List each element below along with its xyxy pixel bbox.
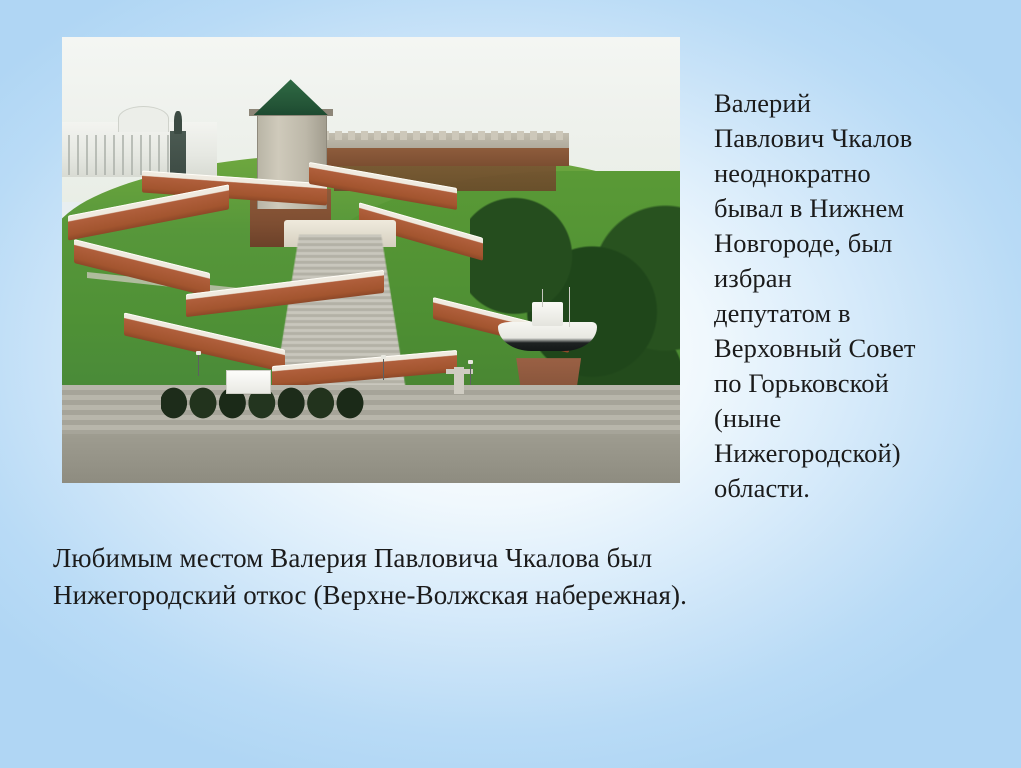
street-lamp: [198, 354, 199, 376]
building-dome: [118, 106, 169, 132]
boat-monument-cabin: [532, 302, 563, 325]
embankment-edge: [62, 434, 680, 483]
boat-monument-mast: [542, 289, 543, 307]
bottom-text-block: Любимым местом Валерия Павловича Чкалова…: [53, 540, 993, 615]
right-text-line: неоднократно: [714, 156, 1014, 191]
right-text-line: депутатом в: [714, 296, 1014, 331]
chkalov-monument-plinth: [170, 131, 186, 178]
right-text-block: Валерий Павлович Чкалов неоднократно быв…: [714, 86, 1014, 506]
presentation-slide: Валерий Павлович Чкалов неоднократно быв…: [0, 0, 1021, 768]
chkalov-monument-figure: [174, 111, 183, 134]
right-text-line: Новгороде, был: [714, 226, 1014, 261]
kremlin-wall-crenellations: [322, 131, 569, 141]
right-text-line: (ныне: [714, 401, 1014, 436]
right-text-line: Валерий: [714, 86, 1014, 121]
bottom-text-line: Нижегородский откос (Верхне-Волжская наб…: [53, 577, 993, 614]
right-text-line: бывал в Нижнем: [714, 191, 1014, 226]
embankment-kiosk: [226, 370, 271, 394]
street-lamp: [383, 358, 384, 380]
right-text-line: избран: [714, 261, 1014, 296]
chkalov-staircase-photo: [62, 37, 680, 483]
right-text-line: Верховный Совет: [714, 331, 1014, 366]
boat-monument-mast: [569, 287, 570, 327]
right-text-line: Павлович Чкалов: [714, 121, 1014, 156]
boat-monument-hull: [498, 322, 597, 351]
street-lamp: [470, 363, 471, 385]
right-text-line: области.: [714, 471, 1014, 506]
photo-frame: [62, 37, 680, 483]
building-colonnade: [68, 135, 173, 175]
right-text-line: по Горьковской: [714, 366, 1014, 401]
bottom-text-line: Любимым местом Валерия Павловича Чкалова…: [53, 540, 993, 577]
cross-monument: [454, 367, 464, 394]
right-text-line: Нижегородской): [714, 436, 1014, 471]
